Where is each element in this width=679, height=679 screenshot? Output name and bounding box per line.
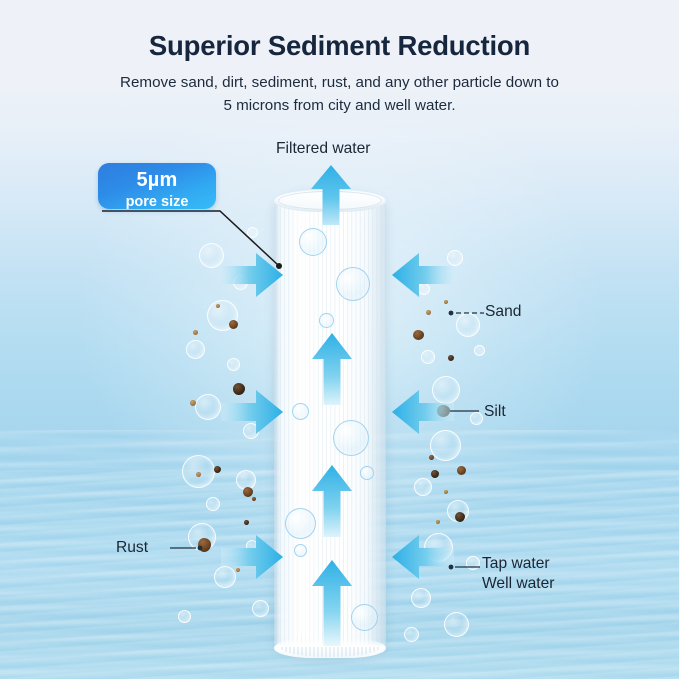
sand-leader-line: [448, 306, 488, 320]
pore-size-leader-line: [100, 205, 290, 275]
label-water-sources: Tap water Well water: [482, 554, 555, 594]
arrow-up-icon-internal-2: [311, 465, 353, 537]
arrow-right-icon-inlet-3: [221, 535, 283, 579]
subtitle-line-1: Remove sand, dirt, sediment, rust, and a…: [120, 74, 559, 91]
arrow-left-icon-inlet-2: [392, 390, 454, 434]
silt-leader-line: [449, 404, 481, 418]
page-title: Superior Sediment Reduction: [0, 30, 679, 62]
arrow-up-icon-internal-1: [311, 333, 353, 405]
rust-leader-line: [170, 541, 204, 555]
page-subtitle: Remove sand, dirt, sediment, rust, and a…: [90, 72, 590, 117]
pore-size-caption: pore size: [98, 190, 216, 210]
arrow-up-icon-outlet: [310, 165, 352, 225]
label-filtered-water: Filtered water: [276, 140, 370, 158]
arrow-left-icon-inlet-3: [392, 535, 454, 579]
arrow-left-icon-inlet-1: [392, 253, 454, 297]
label-rust: Rust: [116, 539, 148, 557]
pore-size-value: 5µm: [98, 163, 216, 190]
label-tap-water: Tap water: [482, 554, 555, 574]
infographic-canvas: Superior Sediment Reduction Remove sand,…: [0, 0, 679, 679]
label-well-water: Well water: [482, 574, 555, 594]
tap-water-leader-line: [448, 560, 482, 574]
header-block: Superior Sediment Reduction Remove sand,…: [0, 30, 679, 117]
label-silt: Silt: [484, 403, 506, 421]
cartridge-bottom-fringe: [280, 647, 380, 657]
label-sand: Sand: [485, 303, 521, 321]
arrow-right-icon-inlet-2: [221, 390, 283, 434]
arrow-up-icon-internal-3: [311, 560, 353, 646]
subtitle-line-2: 5 microns from city and well water.: [223, 97, 455, 114]
pore-size-badge[interactable]: 5µm pore size: [98, 163, 216, 209]
